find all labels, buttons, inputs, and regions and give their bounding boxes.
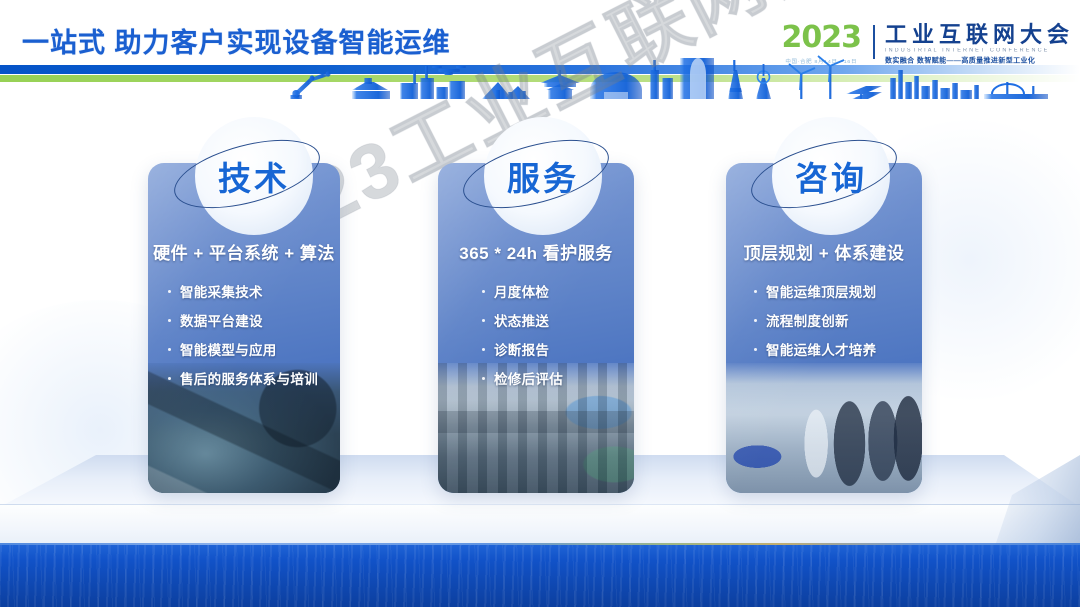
bullet-dot-icon [754,348,757,351]
card-heading: 硬件 + 平台系统 + 算法 [148,239,340,264]
bullet-dot-icon [754,290,757,293]
card-title-service: 服务 [463,152,623,200]
bullet-label: 智能运维顶层规划 [766,281,876,301]
list-item: 智能运维人才培养 [754,339,922,359]
bullet-label: 检修后评估 [494,368,563,388]
consulting-showroom-photo [726,363,922,493]
list-item: 流程制度创新 [754,310,922,330]
logo-name-cn: 工业互联网大会 [885,23,1074,46]
list-item: 智能模型与应用 [168,339,340,359]
bullet-dot-icon [168,377,171,380]
bullet-label: 智能模型与应用 [180,339,277,359]
industrial-city-skyline [0,52,1080,100]
list-item: 检修后评估 [482,368,634,388]
list-item: 数据平台建设 [168,310,340,330]
bullet-dot-icon [754,319,757,322]
card-bullet-list: 智能运维顶层规划 流程制度创新 智能运维人才培养 [726,281,922,368]
bullet-dot-icon [168,348,171,351]
bullet-dot-icon [482,377,485,380]
bullet-label: 诊断报告 [494,339,549,359]
skyline-svg [0,52,1080,100]
water-shimmer-overlay [0,545,1080,607]
bullet-label: 智能采集技术 [180,281,263,301]
bullet-dot-icon [482,290,485,293]
card-heading: 顶层规划 + 体系建设 [726,239,922,264]
bullet-label: 售后的服务体系与培训 [180,368,318,388]
bullet-dot-icon [482,319,485,322]
slide-canvas: 一站式 助力客户实现设备智能运维 2023 中国·合肥 8月14日—16日 工业… [0,0,1080,607]
bullet-dot-icon [482,348,485,351]
bullet-label: 状态推送 [494,310,549,330]
card-bullet-list: 智能采集技术 数据平台建设 智能模型与应用 售后的服务体系与培训 [148,281,340,397]
bullet-dot-icon [168,290,171,293]
card-heading: 365 * 24h 看护服务 [438,239,634,264]
bullet-label: 流程制度创新 [766,310,849,330]
card-title-consulting: 咨询 [751,152,911,200]
bullet-label: 月度体检 [494,281,549,301]
logo-year-text: 2023 [781,23,861,53]
bullet-label: 数据平台建设 [180,310,263,330]
card-bullet-list: 月度体检 状态推送 诊断报告 检修后评估 [438,281,634,397]
card-title-technology: 技术 [174,152,334,200]
list-item: 智能运维顶层规划 [754,281,922,301]
bullet-label: 智能运维人才培养 [766,339,876,359]
list-item: 诊断报告 [482,339,634,359]
list-item: 状态推送 [482,310,634,330]
list-item: 月度体检 [482,281,634,301]
list-item: 智能采集技术 [168,281,340,301]
bullet-dot-icon [168,319,171,322]
list-item: 售后的服务体系与培训 [168,368,340,388]
